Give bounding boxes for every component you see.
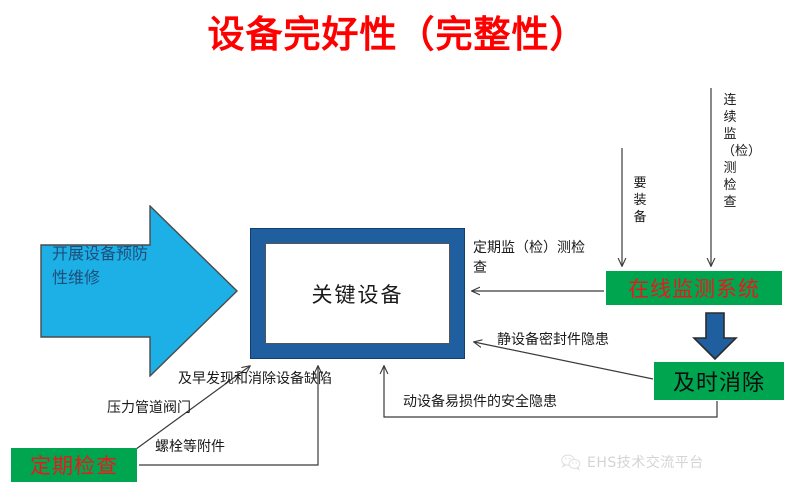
online-monitoring-system-label: 在线监测系统 (628, 273, 760, 303)
edge-label-pressure-pipe-valve: 压力管道阀门 (107, 398, 191, 418)
edge-label-periodic-monitor-check: 定期监（检）测检查 (473, 238, 593, 278)
edge-label-early-defect-detection: 及早发现和消除设备缺陷 (178, 369, 332, 389)
edge-label-dynamic-wear-hazard: 动设备易损件的安全隐患 (403, 392, 557, 412)
periodic-inspection-label: 定期检查 (30, 450, 118, 480)
core-equipment-inner: 关键设备 (265, 243, 450, 344)
edge-label-continuous-monitoring: 连续监（检）测检查 (722, 92, 738, 211)
page-title: 设备完好性（完整性） (0, 4, 795, 58)
core-equipment-box[interactable]: 关键设备 (250, 228, 465, 359)
watermark-text: EHS技术交流平台 (587, 452, 704, 472)
edge-label-bolts-and-fittings: 螺栓等附件 (155, 437, 225, 457)
core-equipment-label: 关键设备 (312, 279, 404, 309)
edge-label-static-seal-hazard: 静设备密封件隐患 (497, 330, 609, 350)
diagram-canvas: 设备完好性（完整性） (0, 0, 795, 487)
watermark: EHS技术交流平台 (561, 452, 704, 472)
preventive-maintenance-label: 开展设备预防性维修 (52, 242, 162, 290)
edge-label-equip-required: 要装备 (632, 175, 648, 226)
blue-down-arrow-icon (692, 312, 738, 360)
timely-elimination-box[interactable]: 及时消除 (654, 362, 784, 400)
wechat-icon (561, 453, 581, 471)
timely-elimination-label: 及时消除 (673, 365, 765, 397)
online-monitoring-system-box[interactable]: 在线监测系统 (606, 271, 782, 305)
periodic-inspection-box[interactable]: 定期检查 (11, 448, 137, 482)
preventive-maintenance-arrow[interactable] (40, 205, 238, 377)
